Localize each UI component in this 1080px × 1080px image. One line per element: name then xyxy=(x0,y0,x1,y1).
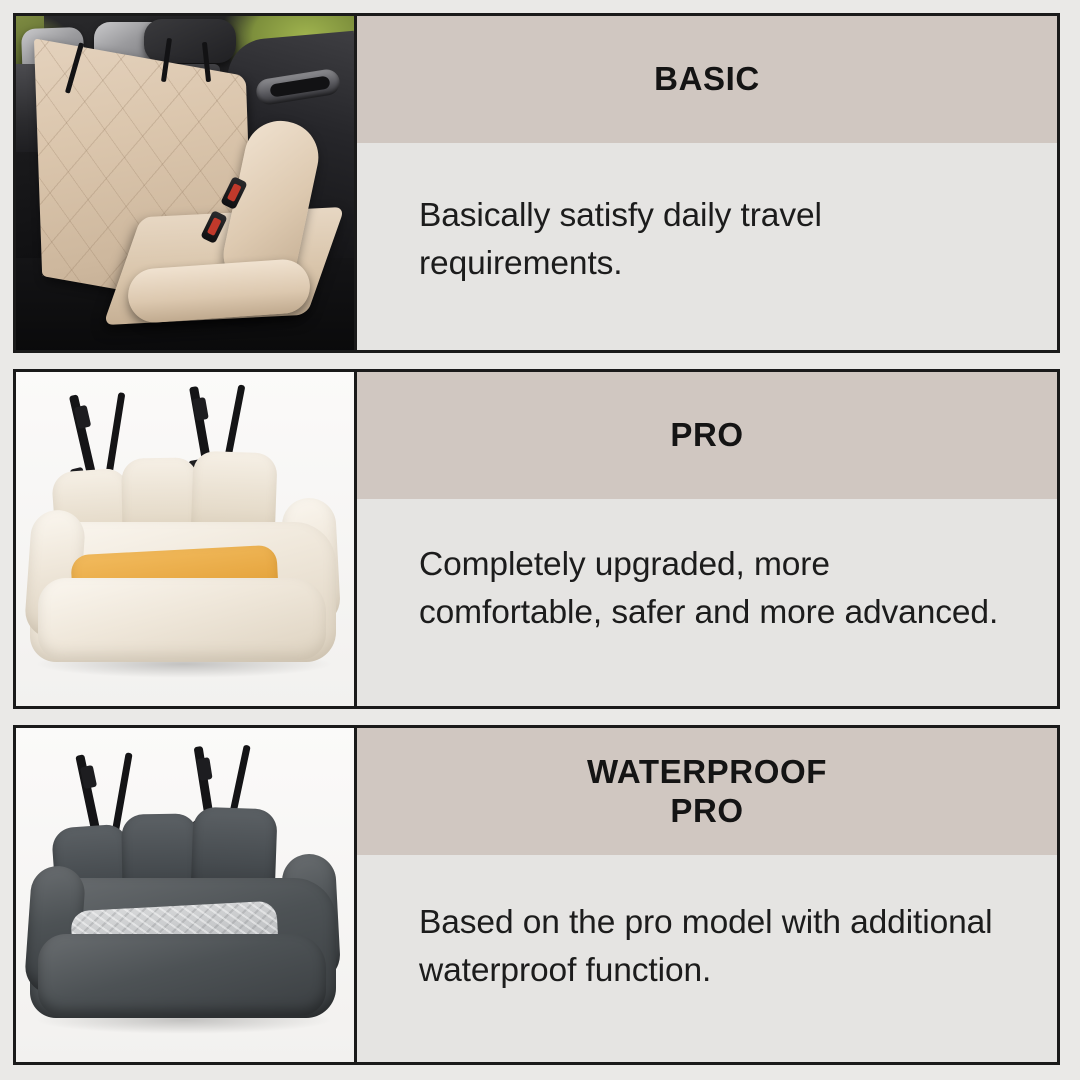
product-image-pro xyxy=(16,372,357,706)
product-row-basic[interactable]: BASIC Basically satisfy daily travel req… xyxy=(13,13,1060,353)
product-description: Completely upgraded, more comfortable, s… xyxy=(419,541,1013,636)
bed-front-bolster xyxy=(38,934,326,1016)
product-image-waterproof-pro xyxy=(16,728,357,1062)
product-title: BASIC xyxy=(654,60,760,99)
product-title: PRO xyxy=(670,416,743,455)
description-wrapper-basic: Basically satisfy daily travel requireme… xyxy=(357,143,1057,350)
car-interior-scene xyxy=(16,16,354,350)
product-title: WATERPROOF PRO xyxy=(587,753,827,830)
title-band-pro: PRO xyxy=(357,372,1057,499)
product-comparison-page: BASIC Basically satisfy daily travel req… xyxy=(0,0,1080,1080)
description-wrapper-pro: Completely upgraded, more comfortable, s… xyxy=(357,499,1057,706)
pet-bed-scene-waterproof xyxy=(16,728,354,1062)
product-text-waterproof-pro: WATERPROOF PRO Based on the pro model wi… xyxy=(357,728,1057,1062)
car-headrest xyxy=(144,19,236,63)
product-row-waterproof-pro[interactable]: WATERPROOF PRO Based on the pro model wi… xyxy=(13,725,1060,1065)
title-band-basic: BASIC xyxy=(357,16,1057,143)
product-row-pro[interactable]: PRO Completely upgraded, more comfortabl… xyxy=(13,369,1060,709)
product-description: Basically satisfy daily travel requireme… xyxy=(419,192,1013,287)
title-band-waterproof-pro: WATERPROOF PRO xyxy=(357,728,1057,855)
bed-front-bolster xyxy=(38,578,326,660)
description-wrapper-waterproof-pro: Based on the pro model with additional w… xyxy=(357,855,1057,1062)
pet-bed-scene-pro xyxy=(16,372,354,706)
product-text-pro: PRO Completely upgraded, more comfortabl… xyxy=(357,372,1057,706)
product-image-basic xyxy=(16,16,357,350)
product-text-basic: BASIC Basically satisfy daily travel req… xyxy=(357,16,1057,350)
product-description: Based on the pro model with additional w… xyxy=(419,899,1013,994)
